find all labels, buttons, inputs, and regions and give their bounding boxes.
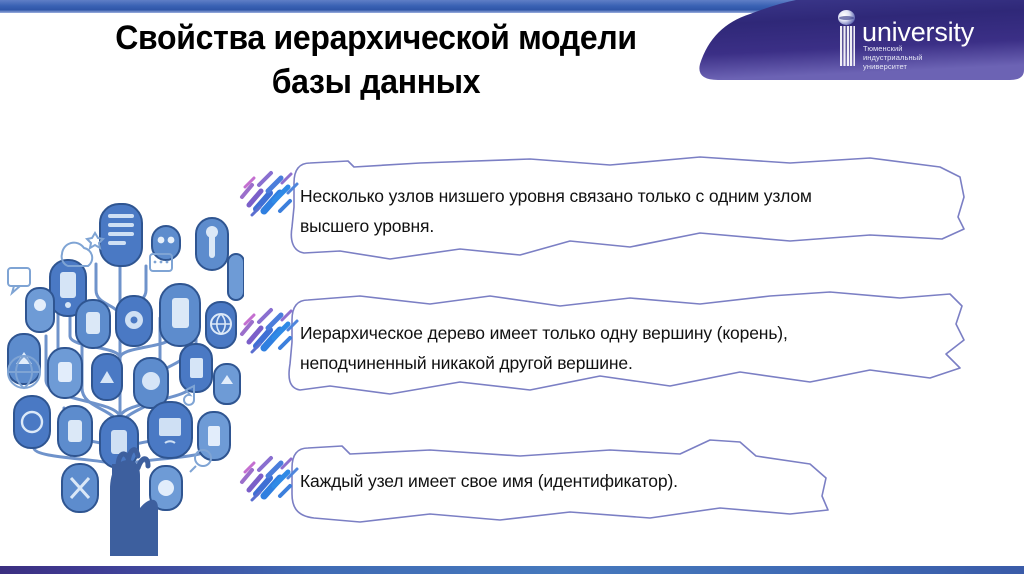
university-globe-mark-icon	[836, 10, 858, 66]
property-callout-2: Иерархическое дерево имеет только одну в…	[270, 290, 970, 400]
slide-canvas: Свойства иерархической модели базы данны…	[0, 0, 1024, 574]
property-callout-3: Каждый узел имеет свое имя (идентификато…	[270, 438, 860, 528]
callout-1-text: Несколько узлов низшего уровня связано т…	[300, 181, 960, 241]
property-callout-1: Несколько узлов низшего уровня связано т…	[270, 155, 970, 265]
footer-band	[0, 566, 1024, 574]
page-title: Свойства иерархической модели базы данны…	[47, 16, 705, 104]
logo[interactable]: university Тюменский индустриальный унив…	[836, 8, 1016, 70]
paint-splash-icon	[236, 304, 302, 358]
logo-wordmark: university	[862, 18, 974, 46]
callout-2-text: Иерархическое дерево имеет только одну в…	[300, 318, 965, 378]
paint-splash-icon	[236, 452, 302, 506]
paint-splash-icon	[236, 167, 302, 221]
callout-3-text: Каждый узел имеет свое имя (идентификато…	[300, 466, 845, 496]
logo-subtitle: Тюменский индустриальный университет	[863, 44, 923, 71]
tech-icon-tree-illustration	[0, 168, 244, 558]
